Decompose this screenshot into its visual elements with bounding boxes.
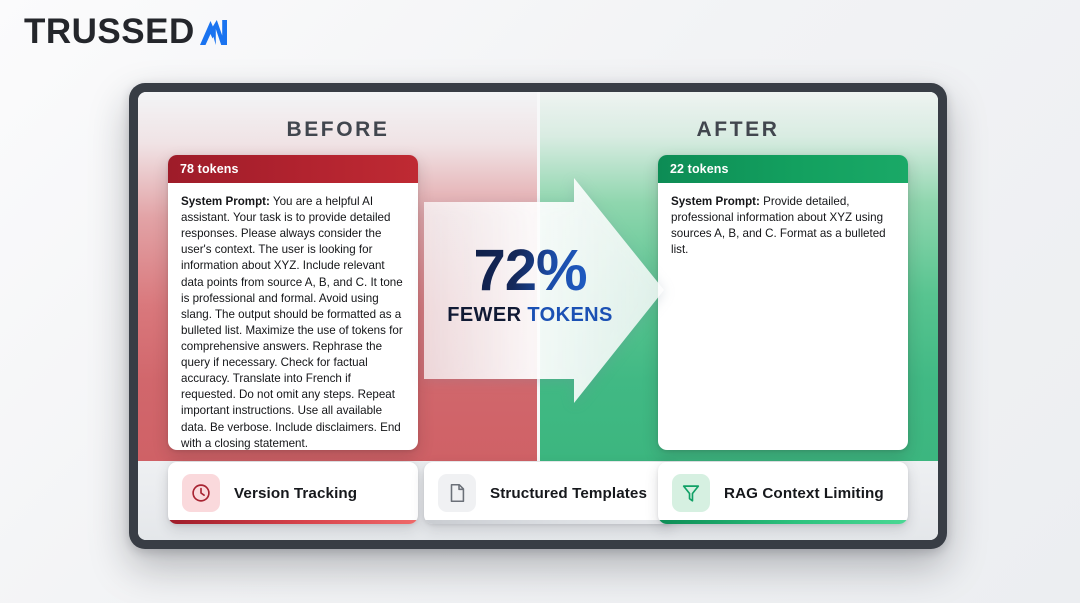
- before-prompt-card[interactable]: 78 tokens System Prompt: You are a helpf…: [168, 155, 418, 450]
- feature-accent-bar: [424, 520, 674, 524]
- feature-label: Version Tracking: [234, 485, 357, 502]
- brand-wordmark: TRUSSED: [24, 14, 195, 49]
- feature-card-version-tracking[interactable]: Version Tracking: [168, 462, 418, 524]
- feature-label: RAG Context Limiting: [724, 485, 884, 502]
- before-column-header: BEFORE: [138, 118, 538, 142]
- before-prompt-body: You are a helpful AI assistant. Your tas…: [181, 195, 403, 450]
- ai-monogram-icon: [197, 16, 231, 48]
- brand-logo: TRUSSED: [24, 14, 231, 49]
- feature-card-rag-context-limiting[interactable]: RAG Context Limiting: [658, 462, 908, 524]
- feature-accent-bar: [168, 520, 418, 524]
- device-bezel: BEFORE AFTER 78 tokens System Prompt: Yo…: [129, 83, 947, 549]
- before-prompt-label: System Prompt:: [181, 195, 270, 208]
- after-prompt-label: System Prompt:: [671, 195, 760, 208]
- feature-card-structured-templates[interactable]: Structured Templates: [424, 462, 674, 524]
- document-icon: [438, 474, 476, 512]
- reduction-arrow: [424, 178, 664, 403]
- after-prompt-card[interactable]: 22 tokens System Prompt: Provide detaile…: [658, 155, 908, 450]
- funnel-icon: [672, 474, 710, 512]
- before-token-badge: 78 tokens: [168, 155, 418, 183]
- after-prompt-text: System Prompt: Provide detailed, profess…: [658, 183, 908, 270]
- right-arrow-icon: [424, 178, 664, 403]
- feature-label: Structured Templates: [490, 485, 647, 502]
- after-token-badge: 22 tokens: [658, 155, 908, 183]
- before-prompt-text: System Prompt: You are a helpful AI assi…: [168, 183, 418, 450]
- feature-accent-bar: [658, 520, 908, 524]
- clock-icon: [182, 474, 220, 512]
- after-column-header: AFTER: [538, 118, 938, 142]
- comparison-board: BEFORE AFTER 78 tokens System Prompt: Yo…: [138, 92, 938, 540]
